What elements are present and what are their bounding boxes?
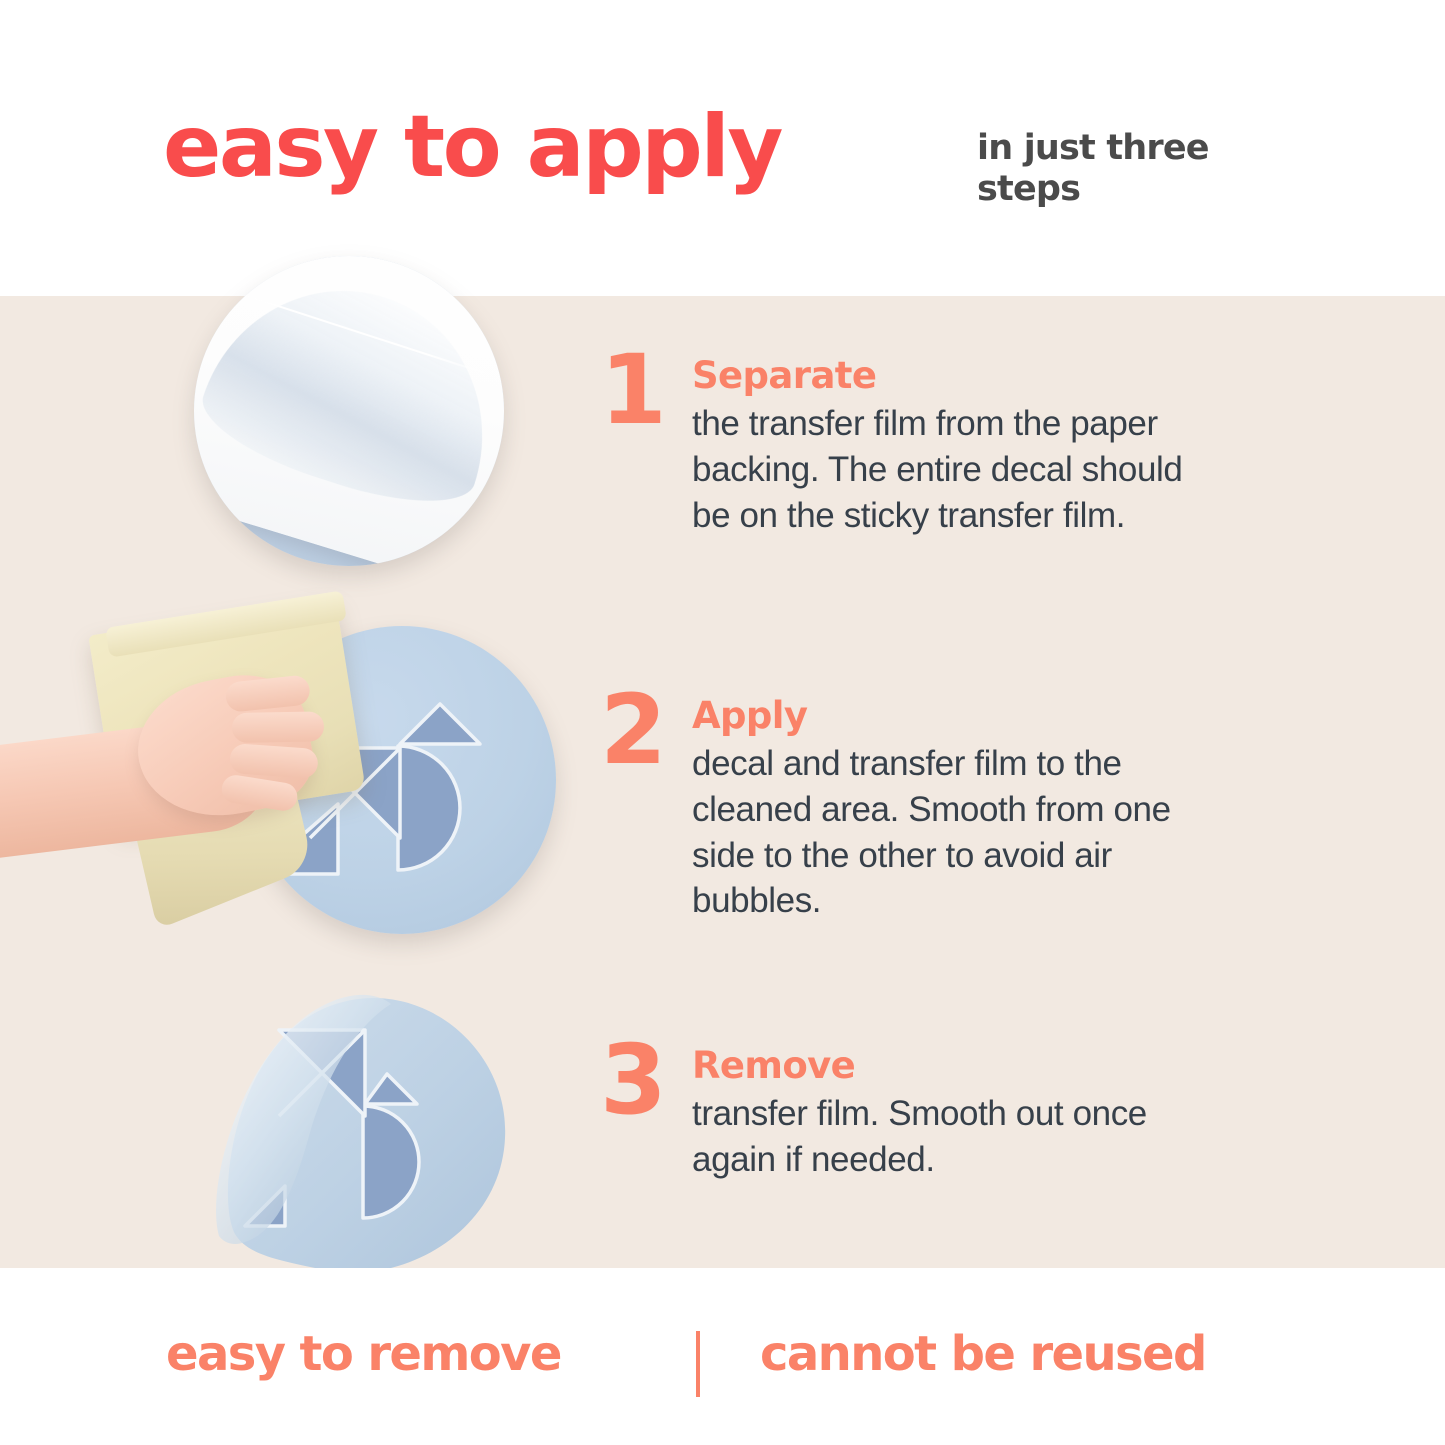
tangram-bird-mark-1 <box>194 256 504 566</box>
step-number-2: 2 <box>600 686 692 774</box>
step-text-2: decal and transfer film to the cleaned a… <box>692 741 1222 924</box>
steps-list: 1 Separate the transfer film from the pa… <box>600 296 1300 1268</box>
step-body-3: Remove transfer film. Smooth out once ag… <box>692 1036 1260 1183</box>
page-subtitle: in just three steps <box>977 128 1267 210</box>
footer-claim-easy-to-remove: easy to remove <box>166 1330 561 1378</box>
hand-with-cloth <box>0 585 410 945</box>
step-item-1: 1 Separate the transfer film from the pa… <box>600 346 1260 538</box>
infographic-page: easy to apply in just three steps <box>0 0 1445 1445</box>
step-title-1: Separate <box>692 357 1260 396</box>
step-text-3: transfer film. Smooth out once again if … <box>692 1091 1222 1183</box>
decal-circle-1 <box>194 256 504 566</box>
page-subtitle-line-2: steps <box>977 169 1267 210</box>
footer-claim-cannot-be-reused: cannot be reused <box>760 1330 1206 1378</box>
step-3-illustration <box>205 986 517 1286</box>
step-body-2: Apply decal and transfer film to the cle… <box>692 686 1260 924</box>
page-title: easy to apply <box>163 104 781 190</box>
step-title-2: Apply <box>692 697 1260 736</box>
step-1-illustration <box>194 256 504 566</box>
step-title-3: Remove <box>692 1047 1260 1086</box>
step-body-1: Separate the transfer film from the pape… <box>692 346 1260 538</box>
step-item-2: 2 Apply decal and transfer film to the c… <box>600 686 1260 924</box>
header: easy to apply in just three steps <box>0 0 1445 296</box>
step-item-3: 3 Remove transfer film. Smooth out once … <box>600 1036 1260 1183</box>
step-number-1: 1 <box>600 346 692 434</box>
step-text-1: the transfer film from the paper backing… <box>692 401 1222 539</box>
step-number-3: 3 <box>600 1036 692 1124</box>
finger-ring <box>229 743 319 779</box>
footer-divider <box>696 1331 700 1397</box>
decal-with-film-removed <box>205 986 517 1286</box>
page-subtitle-line-1: in just three <box>977 128 1267 169</box>
finger-middle <box>232 711 325 743</box>
